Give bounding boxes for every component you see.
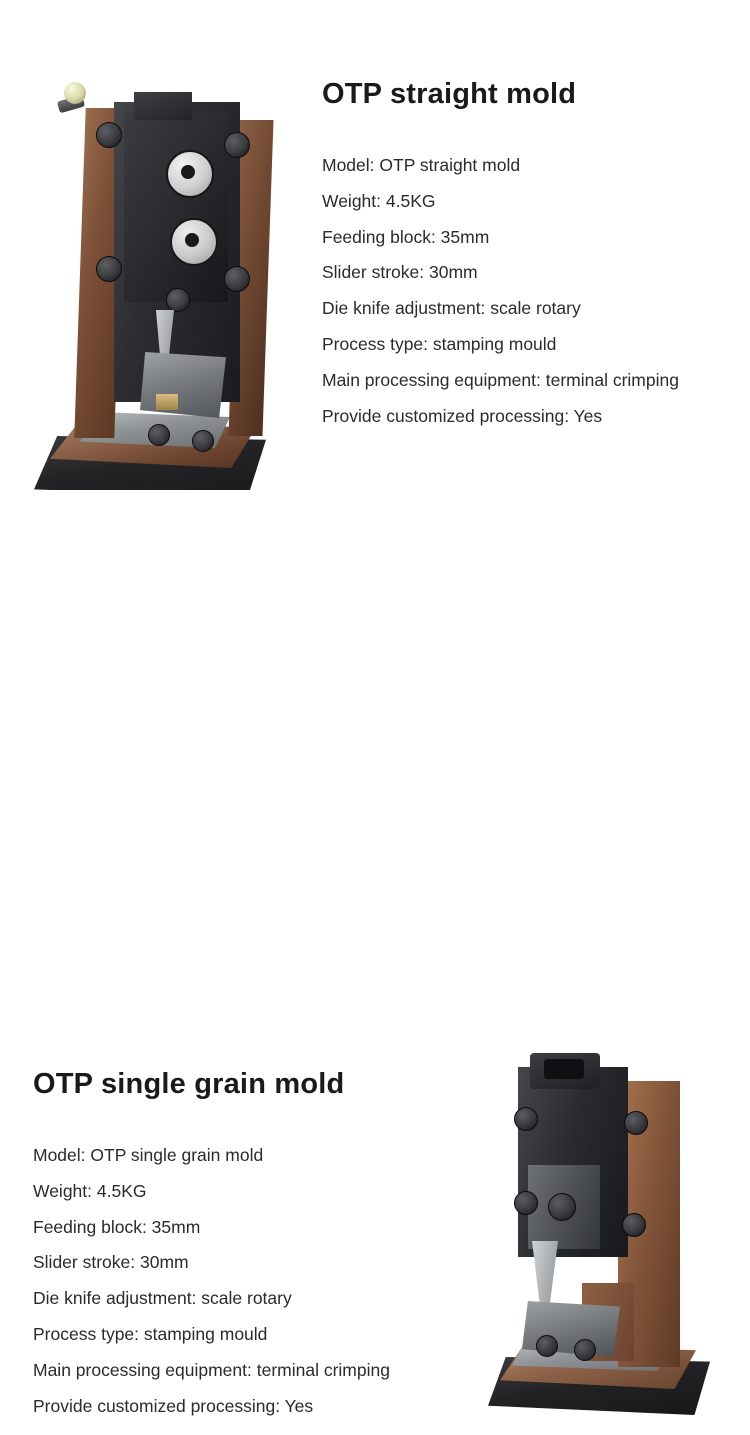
product-image-straight-mold bbox=[28, 40, 288, 490]
product-section-single-grain-mold: OTP single grain mold Model: OTP single … bbox=[0, 510, 750, 931]
bolt-icon bbox=[514, 1191, 538, 1215]
terminal-strip bbox=[156, 394, 178, 410]
spec-item: Provide customized processing: Yes bbox=[322, 399, 679, 435]
spec-item: Process type: stamping mould bbox=[33, 1317, 390, 1353]
spec-item: Process type: stamping mould bbox=[322, 327, 679, 363]
machine-top-slot bbox=[544, 1059, 584, 1079]
bolt-icon bbox=[514, 1107, 538, 1131]
machine-top-block bbox=[134, 92, 192, 120]
scale-rotary-dial-upper bbox=[166, 150, 214, 198]
spec-item: Model: OTP single grain mold bbox=[33, 1138, 390, 1174]
spec-item: Model: OTP straight mold bbox=[322, 148, 679, 184]
scale-rotary-dial-lower bbox=[170, 218, 218, 266]
bolt-icon bbox=[96, 122, 122, 148]
anvil-block bbox=[140, 352, 226, 418]
bolt-icon bbox=[192, 430, 214, 452]
adjust-screw-head bbox=[64, 82, 86, 104]
spec-list: Model: OTP straight mold Weight: 4.5KG F… bbox=[322, 148, 679, 434]
bolt-icon bbox=[148, 424, 170, 446]
page-title: OTP straight mold bbox=[322, 78, 679, 111]
spec-item: Die knife adjustment: scale rotary bbox=[33, 1281, 390, 1317]
bolt-icon bbox=[622, 1213, 646, 1237]
product-section-straight-mold: OTP straight mold Model: OTP straight mo… bbox=[0, 0, 750, 510]
spec-item: Feeding block: 35mm bbox=[33, 1210, 390, 1246]
spec-item: Slider stroke: 30mm bbox=[322, 255, 679, 291]
spec-item: Weight: 4.5KG bbox=[322, 184, 679, 220]
spec-item: Die knife adjustment: scale rotary bbox=[322, 291, 679, 327]
spec-item: Main processing equipment: terminal crim… bbox=[33, 1353, 390, 1389]
product-image-single-grain-mold bbox=[470, 1045, 730, 1435]
spec-list: Model: OTP single grain mold Weight: 4.5… bbox=[33, 1138, 390, 1424]
spec-item: Feeding block: 35mm bbox=[322, 220, 679, 256]
bolt-icon bbox=[224, 266, 250, 292]
bolt-icon bbox=[166, 288, 190, 312]
spec-item: Slider stroke: 30mm bbox=[33, 1245, 390, 1281]
bolt-icon bbox=[224, 132, 250, 158]
section-title: OTP single grain mold bbox=[33, 1068, 390, 1101]
spec-item: Main processing equipment: terminal crim… bbox=[322, 363, 679, 399]
bolt-icon bbox=[548, 1193, 576, 1221]
spec-item: Weight: 4.5KG bbox=[33, 1174, 390, 1210]
product-text-single-grain-mold: OTP single grain mold Model: OTP single … bbox=[33, 1068, 390, 1424]
bolt-icon bbox=[624, 1111, 648, 1135]
spec-item: Provide customized processing: Yes bbox=[33, 1389, 390, 1425]
bolt-icon bbox=[96, 256, 122, 282]
machine-body-face bbox=[124, 112, 228, 302]
bolt-icon bbox=[574, 1339, 596, 1361]
bolt-icon bbox=[536, 1335, 558, 1357]
product-text-straight-mold: OTP straight mold Model: OTP straight mo… bbox=[322, 78, 679, 434]
